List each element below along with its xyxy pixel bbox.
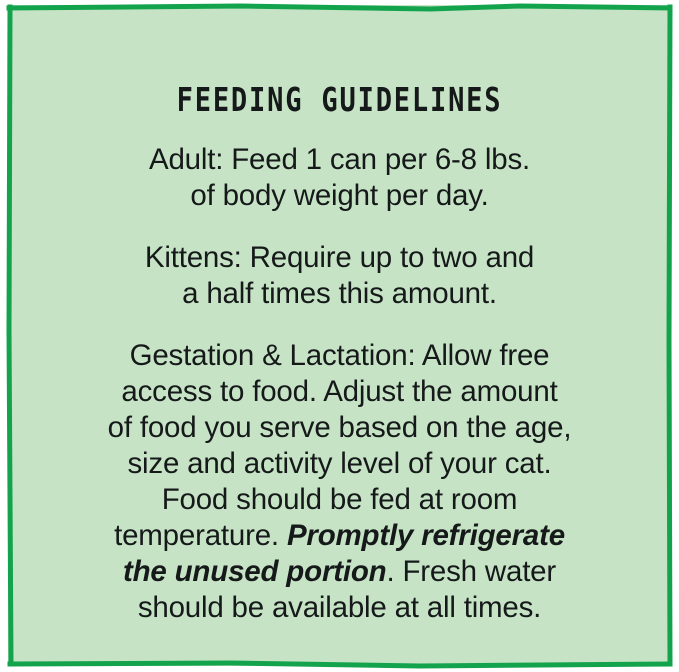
guidelines-content: FEEDING GUIDELINES Adult: Feed 1 can per… [8, 5, 671, 666]
page-title: FEEDING GUIDELINES [82, 5, 596, 116]
feeding-section-kittens: Kittens: Require up to two and a half ti… [26, 240, 653, 312]
feeding-section-gestation-lactation: Gestation & Lactation: Allow free access… [26, 338, 653, 626]
feeding-section-adult: Adult: Feed 1 can per 6-8 lbs. of body w… [26, 142, 653, 214]
